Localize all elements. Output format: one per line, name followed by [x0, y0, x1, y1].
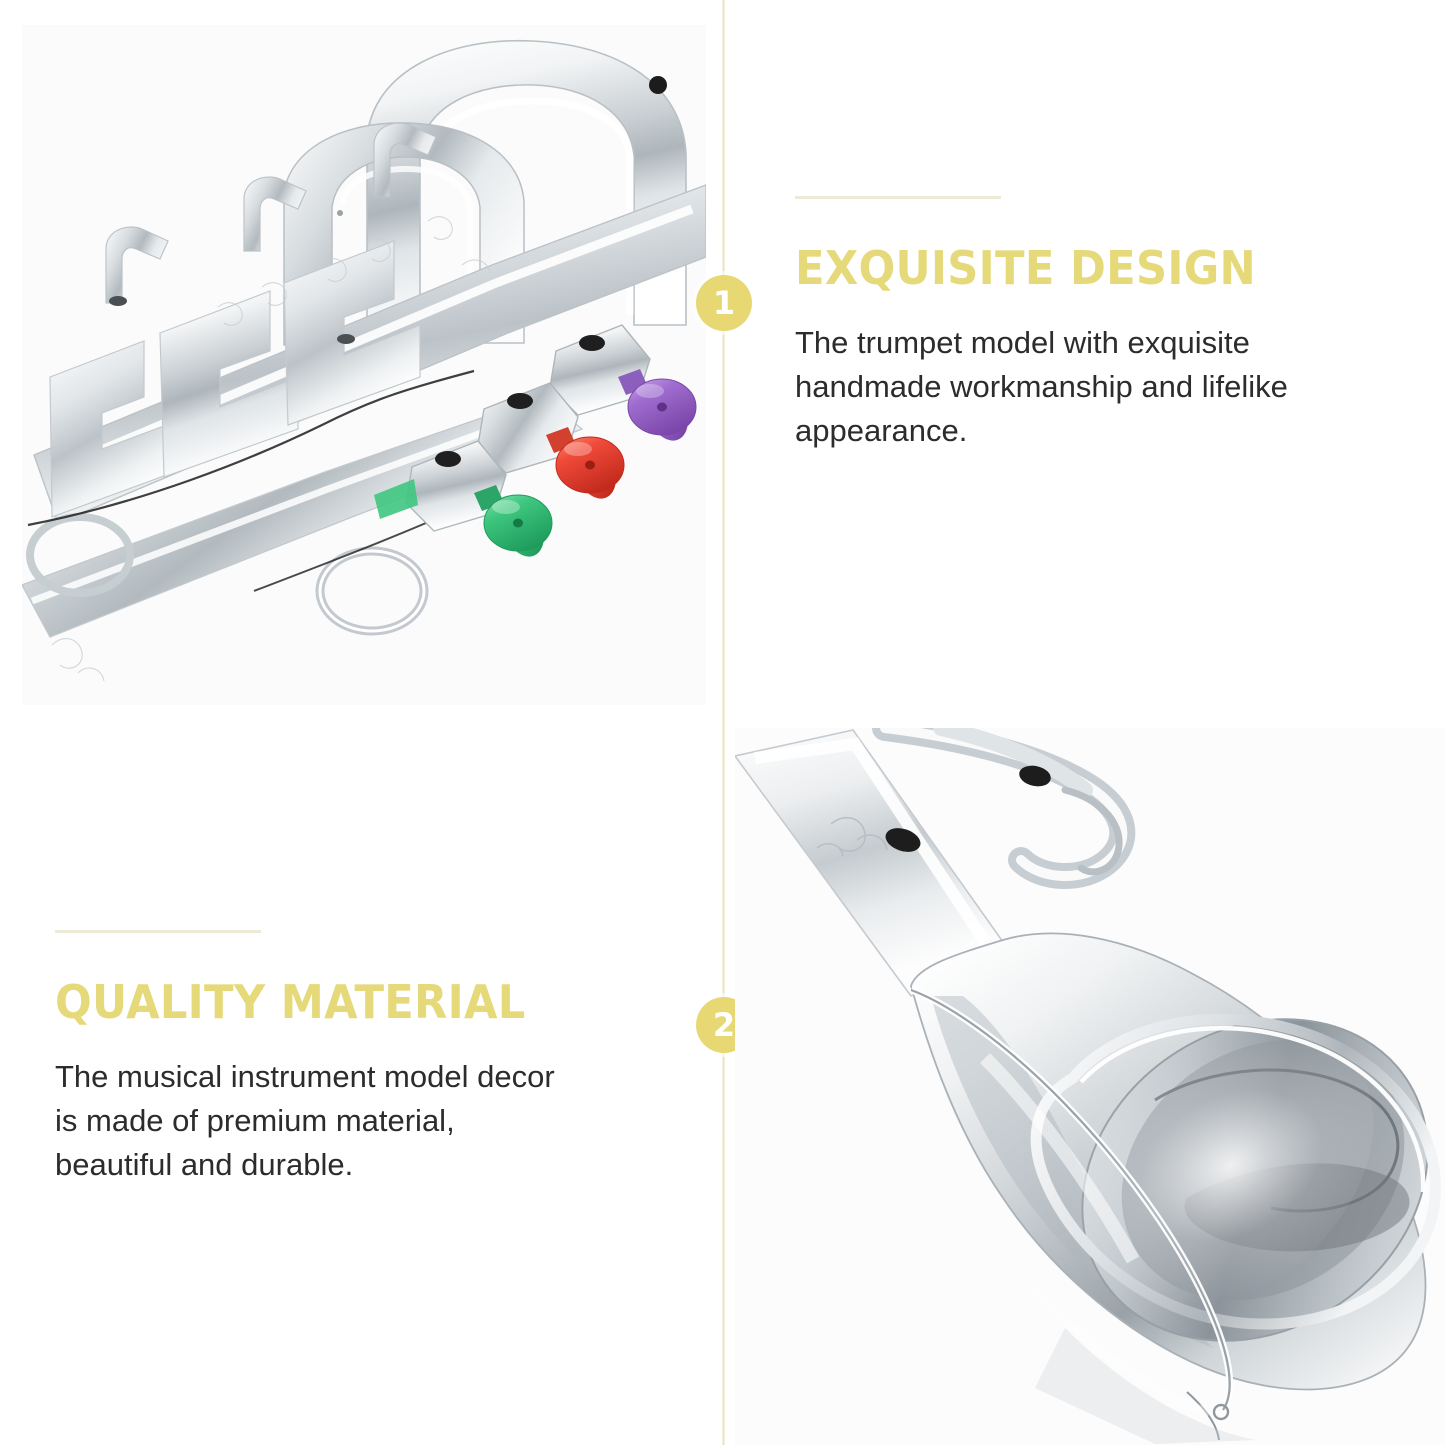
vertical-divider — [722, 0, 725, 1445]
feature-block-2: QUALITY MATERIAL The musical instrument … — [55, 930, 645, 1187]
heading-rule — [55, 930, 261, 933]
feature-2-heading: QUALITY MATERIAL — [55, 975, 610, 1029]
trumpet-valves-photo — [22, 25, 706, 705]
feature-block-1: EXQUISITE DESIGN The trumpet model with … — [795, 196, 1385, 453]
feature-1-body: The trumpet model with exquisite handmad… — [795, 321, 1355, 453]
product-infographic: EXQUISITE DESIGN The trumpet model with … — [0, 0, 1445, 1445]
feature-2-body: The musical instrument model decor is ma… — [55, 1055, 575, 1187]
feature-1-heading: EXQUISITE DESIGN — [795, 241, 1350, 295]
trumpet-bell-photo — [735, 728, 1445, 1445]
feature-number-badge-1: 1 — [696, 275, 752, 331]
heading-rule — [795, 196, 1001, 199]
